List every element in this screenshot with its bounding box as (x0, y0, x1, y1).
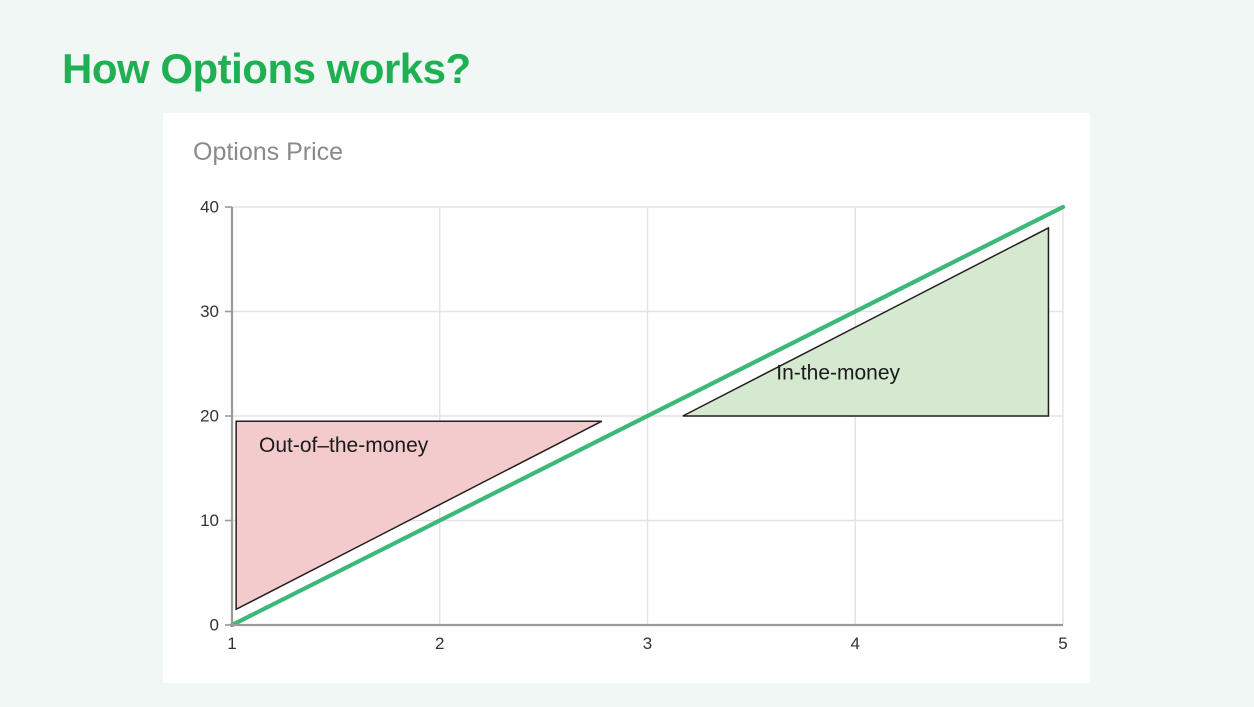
y-tick-label: 0 (210, 615, 219, 634)
region-label-out-of-the-money: Out-of–the-money (259, 434, 429, 457)
y-tick-label: 10 (200, 511, 219, 530)
y-tick-label: 20 (200, 406, 219, 425)
region-label-in-the-money: In-the-money (776, 362, 900, 385)
x-tick-label: 1 (227, 634, 236, 653)
x-tick-label: 2 (435, 634, 444, 653)
y-tick-label: 30 (200, 302, 219, 321)
options-payoff-chart: Out-of–the-moneyIn-the-money010203040123… (163, 113, 1090, 683)
x-tick-label: 4 (851, 634, 860, 653)
x-tick-label: 3 (643, 634, 652, 653)
x-tick-label: 5 (1058, 634, 1067, 653)
y-tick-label: 40 (200, 197, 219, 216)
slide-canvas: How Options works? Options Price Out-of–… (0, 0, 1254, 707)
page-title: How Options works? (62, 48, 471, 90)
chart-card: Options Price Out-of–the-moneyIn-the-mon… (163, 113, 1090, 683)
region-in-the-money (683, 228, 1049, 416)
